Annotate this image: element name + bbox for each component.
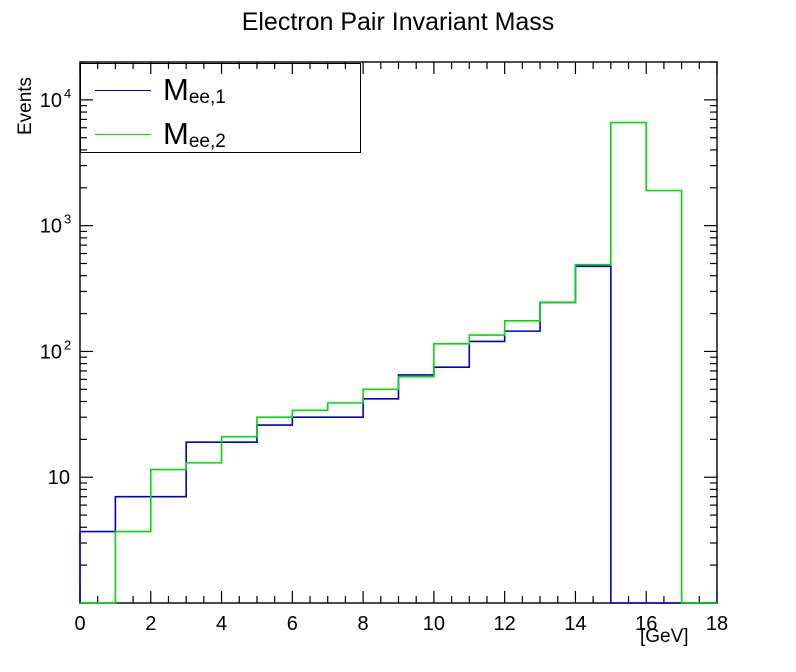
legend-label-subscript: ee,2 bbox=[189, 131, 226, 152]
plot-canvas: Electron Pair Invariant Mass Events 0246… bbox=[0, 0, 796, 672]
y-axis-tick-label: 104 bbox=[40, 86, 71, 112]
x-axis-tick-label: 10 bbox=[423, 613, 445, 635]
legend-label: Mee,1 bbox=[163, 74, 226, 107]
legend-label: Mee,2 bbox=[163, 118, 226, 151]
legend: Mee,1Mee,2 bbox=[80, 63, 361, 153]
legend-entry-2: Mee,2 bbox=[81, 114, 362, 154]
x-axis-tick-label: 8 bbox=[358, 613, 369, 635]
y-axis-tick-label: 10 bbox=[48, 467, 70, 489]
legend-label-main: M bbox=[163, 116, 189, 151]
x-axis-tick-label: 6 bbox=[287, 613, 298, 635]
svg-text:10: 10 bbox=[40, 341, 62, 363]
histogram-series-1 bbox=[80, 266, 717, 603]
x-axis-tick-label: 12 bbox=[494, 613, 516, 635]
legend-label-main: M bbox=[163, 72, 189, 107]
legend-entry-1: Mee,1 bbox=[81, 70, 362, 110]
x-axis-tick-label: 0 bbox=[74, 613, 85, 635]
x-axis-tick-label: 4 bbox=[216, 613, 227, 635]
y-axis-tick-label: 103 bbox=[40, 212, 71, 238]
legend-label-subscript: ee,1 bbox=[189, 87, 226, 108]
svg-text:2: 2 bbox=[64, 337, 71, 352]
x-axis-tick-label: 2 bbox=[145, 613, 156, 635]
x-axis-unit-label: [GeV] bbox=[640, 626, 689, 648]
x-axis-tick-label: 14 bbox=[564, 613, 586, 635]
svg-text:10: 10 bbox=[48, 467, 70, 489]
svg-text:3: 3 bbox=[64, 212, 71, 227]
legend-color-swatch bbox=[95, 90, 151, 91]
legend-color-swatch bbox=[95, 134, 151, 135]
svg-text:10: 10 bbox=[40, 90, 62, 112]
histogram-series-2 bbox=[80, 123, 717, 603]
y-axis-tick-label: 102 bbox=[40, 337, 71, 363]
x-axis-tick-label: 18 bbox=[706, 613, 728, 635]
svg-text:4: 4 bbox=[64, 86, 71, 101]
svg-text:10: 10 bbox=[40, 216, 62, 238]
